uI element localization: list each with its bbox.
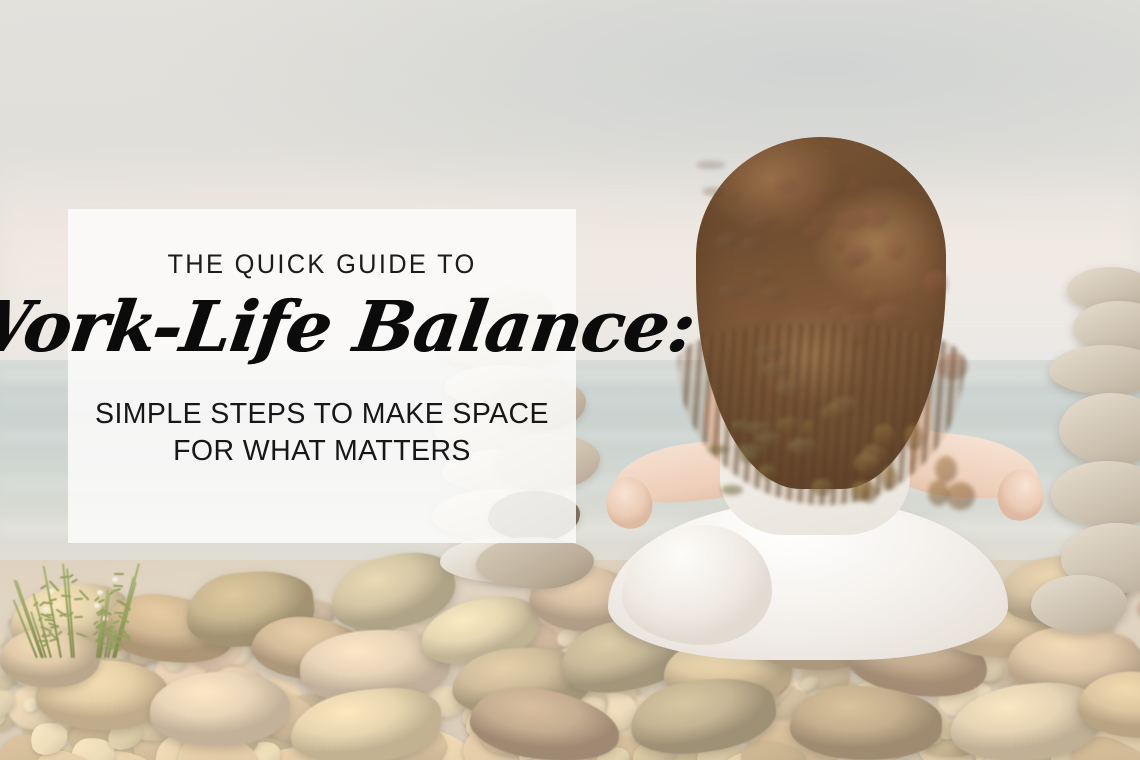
subtitle-line-2: FOR WHAT MATTERS <box>95 433 549 471</box>
main-title: Work-Life Balance: <box>0 292 698 362</box>
beach-plant <box>28 548 138 658</box>
title-card: THE QUICK GUIDE TO Work-Life Balance: SI… <box>68 209 576 543</box>
white-skirt-left <box>622 525 772 645</box>
subtitle: SIMPLE STEPS TO MAKE SPACE FOR WHAT MATT… <box>95 396 549 471</box>
eyebrow-text: THE QUICK GUIDE TO <box>167 251 476 278</box>
meditating-woman <box>600 125 1020 645</box>
subtitle-line-1: SIMPLE STEPS TO MAKE SPACE <box>95 396 549 434</box>
stone-cairn-right <box>1055 275 1140 605</box>
blog-header-banner: THE QUICK GUIDE TO Work-Life Balance: SI… <box>0 0 1140 760</box>
